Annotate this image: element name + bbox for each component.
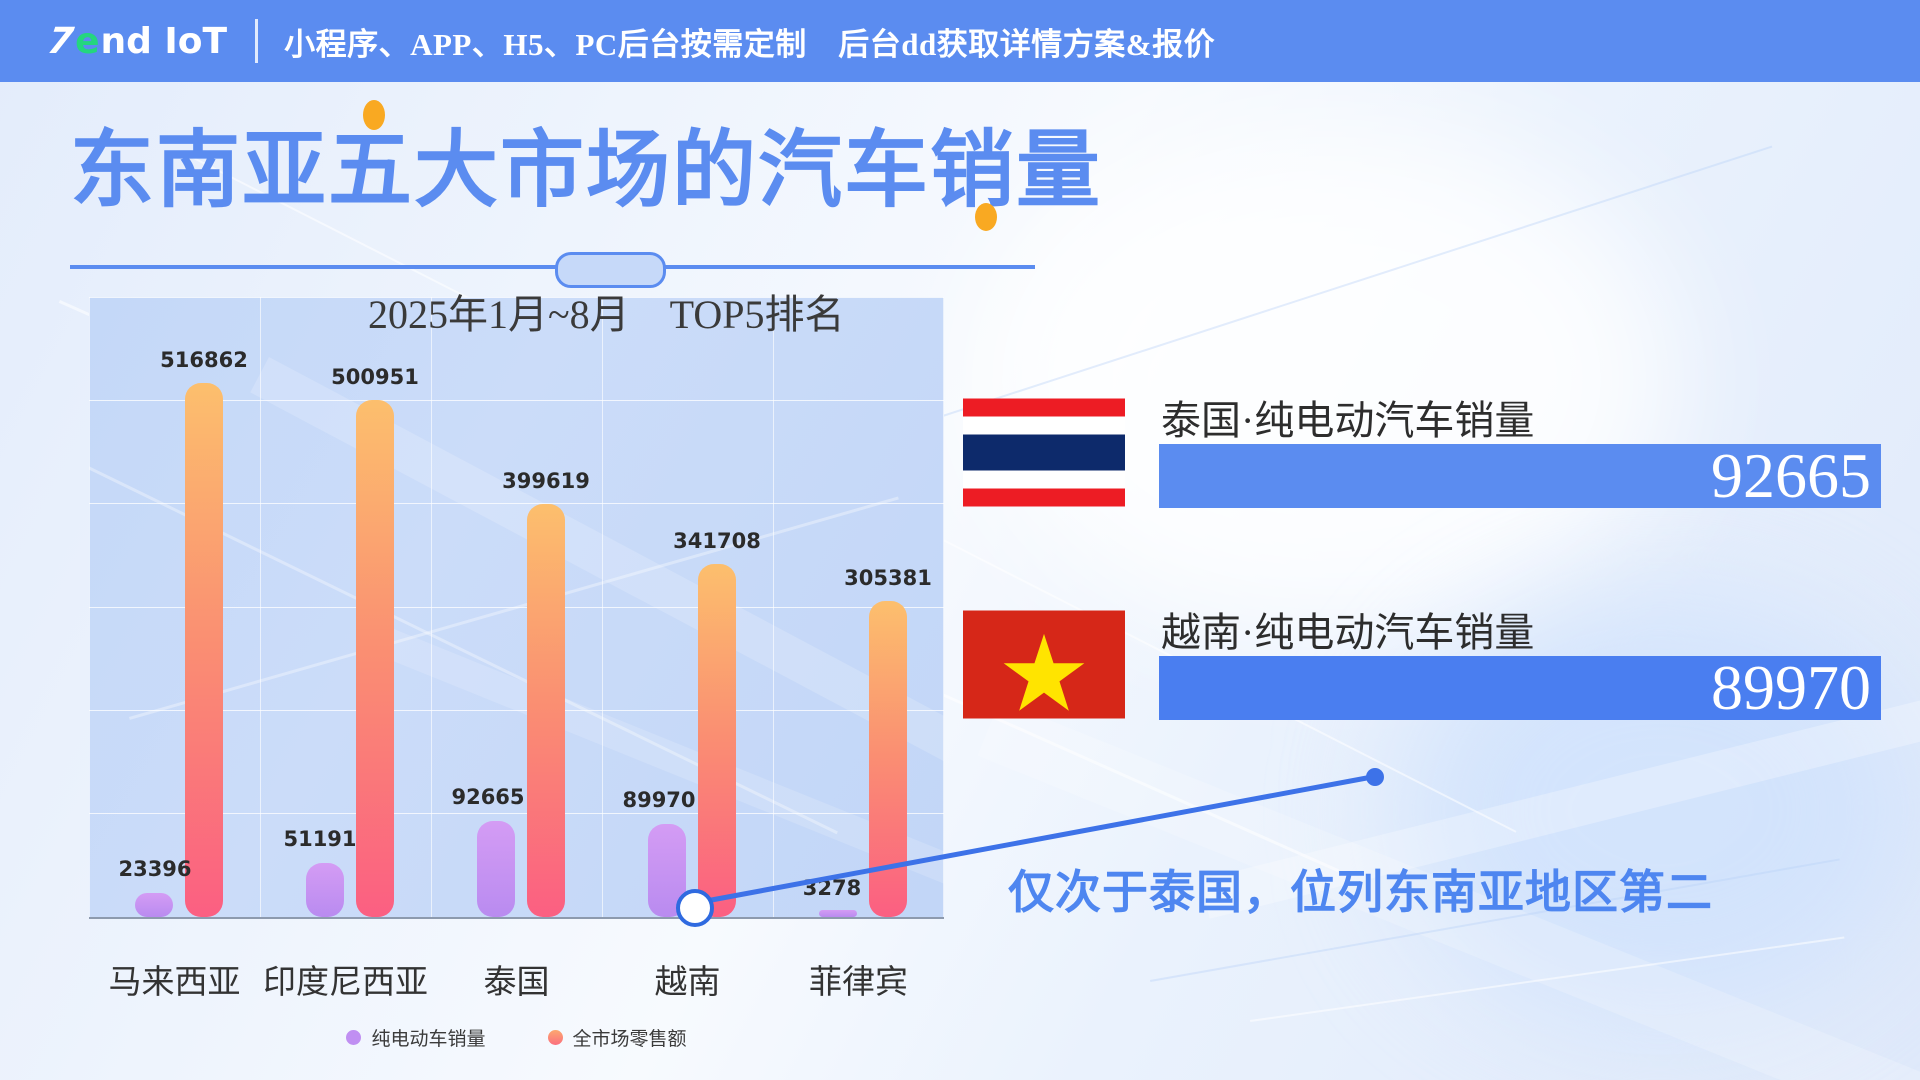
card-value-vietnam: 89970	[1711, 656, 1881, 720]
card-label-vietnam: 越南·纯电动汽车销量	[1161, 600, 1534, 658]
logo-accent-glyph: e	[75, 21, 100, 62]
chart-x-labels: 马来西亚 印度尼西亚 泰国 越南 菲律宾	[89, 955, 944, 1003]
x-label-thailand: 泰国	[431, 955, 602, 1003]
bar-value-ev-thailand: 92665	[438, 785, 538, 809]
chart-bars: 23396 516862 51191 500951 92665 399619 8…	[89, 297, 944, 917]
page-subtitle: 2025年1月~8月 TOP5排名	[368, 282, 844, 340]
thailand-flag	[963, 394, 1125, 511]
bar-market-philippines[interactable]	[869, 601, 907, 917]
bar-ev-philippines[interactable]	[819, 910, 857, 917]
card-thailand: 泰国·纯电动汽车销量 92665	[963, 388, 1883, 528]
x-label-philippines: 菲律宾	[773, 955, 944, 1003]
bar-group-philippines: 3278 305381	[773, 297, 944, 917]
x-label-vietnam: 越南	[602, 955, 773, 1003]
bar-value-ev-philippines: 3278	[787, 876, 877, 900]
legend-dot-icon	[548, 1030, 563, 1045]
bar-value-ev-vietnam: 89970	[609, 788, 709, 812]
accent-dot-icon	[363, 100, 385, 130]
bar-group-vietnam: 89970 341708	[602, 297, 773, 917]
bar-market-vietnam[interactable]	[698, 564, 736, 917]
title-divider	[70, 265, 1035, 269]
bar-value-market-thailand: 399619	[491, 469, 601, 493]
promo-text: 小程序、APP、H5、PC后台按需定制 后台dd获取详情方案&报价	[284, 19, 1215, 64]
card-value-thailand: 92665	[1711, 444, 1881, 508]
bar-value-market-philippines: 305381	[833, 566, 943, 590]
top-banner: 7end IoT 小程序、APP、H5、PC后台按需定制 后台dd获取详情方案&…	[0, 0, 1920, 82]
logo-divider	[255, 19, 258, 63]
bar-ev-indonesia[interactable]	[306, 863, 344, 917]
card-vietnam: 越南·纯电动汽车销量 89970	[963, 600, 1883, 740]
vietnam-flag	[963, 606, 1125, 723]
legend-item-ev[interactable]: 纯电动车销量	[346, 1024, 485, 1051]
bar-value-market-vietnam: 341708	[662, 529, 772, 553]
highlight-marker[interactable]	[676, 889, 714, 927]
legend-dot-icon	[346, 1030, 361, 1045]
bar-ev-malaysia[interactable]	[135, 893, 173, 917]
legend-item-market[interactable]: 全市场零售额	[548, 1024, 687, 1051]
bar-market-malaysia[interactable]	[185, 383, 223, 917]
card-label-thailand: 泰国·纯电动汽车销量	[1161, 388, 1534, 446]
bar-market-thailand[interactable]	[527, 504, 565, 917]
x-label-indonesia: 印度尼西亚	[260, 955, 431, 1003]
card-value-bar-thailand: 92665	[1159, 444, 1881, 508]
x-label-malaysia: 马来西亚	[89, 955, 260, 1003]
bar-group-malaysia: 23396 516862	[89, 297, 260, 917]
annotation-text: 仅次于泰国，位列东南亚地区第二	[1008, 856, 1713, 922]
bar-group-indonesia: 51191 500951	[260, 297, 431, 917]
logo-seven-glyph: 7	[45, 21, 77, 62]
bar-ev-thailand[interactable]	[477, 821, 515, 917]
bar-value-market-malaysia: 516862	[149, 348, 259, 372]
legend-label-market: 全市场零售额	[573, 1024, 687, 1051]
title-block: 东南亚五大市场的汽车销量	[70, 128, 1102, 212]
chart-x-axis	[89, 917, 944, 919]
bar-value-ev-malaysia: 23396	[105, 857, 205, 881]
brand-logo[interactable]: 7end IoT	[48, 21, 227, 62]
chart-legend: 纯电动车销量 全市场零售额	[89, 1024, 944, 1051]
page-title: 东南亚五大市场的汽车销量	[70, 128, 1102, 212]
accent-dot-icon	[975, 203, 997, 231]
bar-value-market-indonesia: 500951	[320, 365, 430, 389]
legend-label-ev: 纯电动车销量	[371, 1024, 485, 1051]
bar-group-thailand: 92665 399619	[431, 297, 602, 917]
bar-value-ev-indonesia: 51191	[270, 827, 370, 851]
card-value-bar-vietnam: 89970	[1159, 656, 1881, 720]
logo-text: nd IoT	[100, 21, 227, 62]
